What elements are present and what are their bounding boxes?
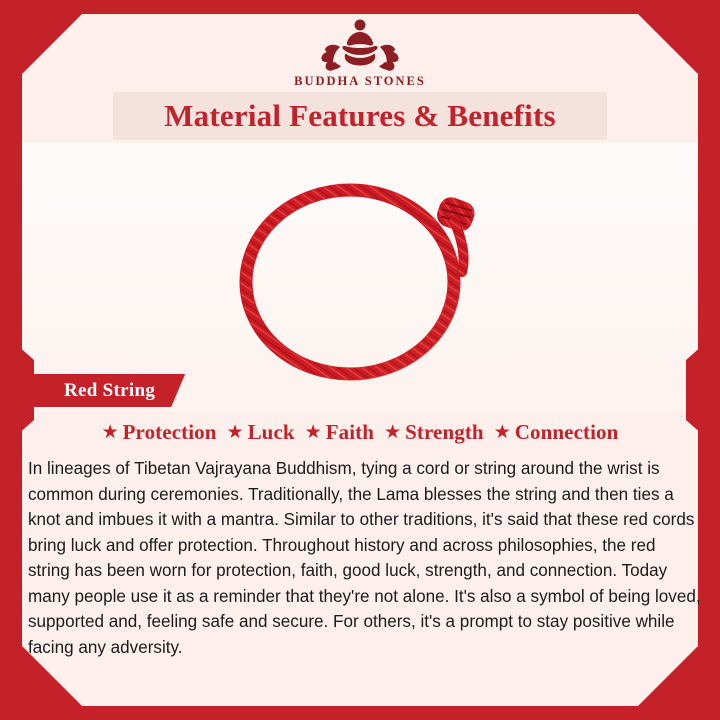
star-icon: ★ xyxy=(305,423,322,442)
description-paragraph: In lineages of Tibetan Vajrayana Buddhis… xyxy=(24,456,706,660)
star-icon: ★ xyxy=(227,423,244,442)
page-title: Material Features & Benefits xyxy=(164,98,556,134)
benefit-label: Connection xyxy=(515,420,619,445)
benefits-list: ★ Protection ★ Luck ★ Faith ★ Strength ★… xyxy=(22,420,698,445)
lotus-meditation-icon xyxy=(305,14,415,72)
product-info-card: BUDDHA STONES Material Features & Benefi… xyxy=(0,0,720,720)
product-name-ribbon: Red String xyxy=(22,374,185,407)
star-icon: ★ xyxy=(102,423,119,442)
brand-logo: BUDDHA STONES xyxy=(0,14,720,89)
product-name: Red String xyxy=(64,380,155,402)
benefit-label: Protection xyxy=(123,420,217,445)
star-icon: ★ xyxy=(384,423,401,442)
benefit-item-strength: ★ Strength xyxy=(379,420,489,445)
brand-name: BUDDHA STONES xyxy=(0,74,720,89)
benefit-label: Luck xyxy=(248,420,295,445)
product-image-red-string-bracelet xyxy=(230,160,500,390)
frame-border-top xyxy=(0,0,720,14)
benefit-item-protection: ★ Protection xyxy=(97,420,222,445)
star-icon: ★ xyxy=(494,423,511,442)
section-title-band: Material Features & Benefits xyxy=(113,92,607,140)
benefit-label: Faith xyxy=(326,420,374,445)
benefit-label: Strength xyxy=(405,420,484,445)
benefit-item-faith: ★ Faith xyxy=(300,420,379,445)
frame-border-bottom xyxy=(0,706,720,720)
benefit-item-connection: ★ Connection xyxy=(489,420,624,445)
benefit-item-luck: ★ Luck xyxy=(222,420,300,445)
